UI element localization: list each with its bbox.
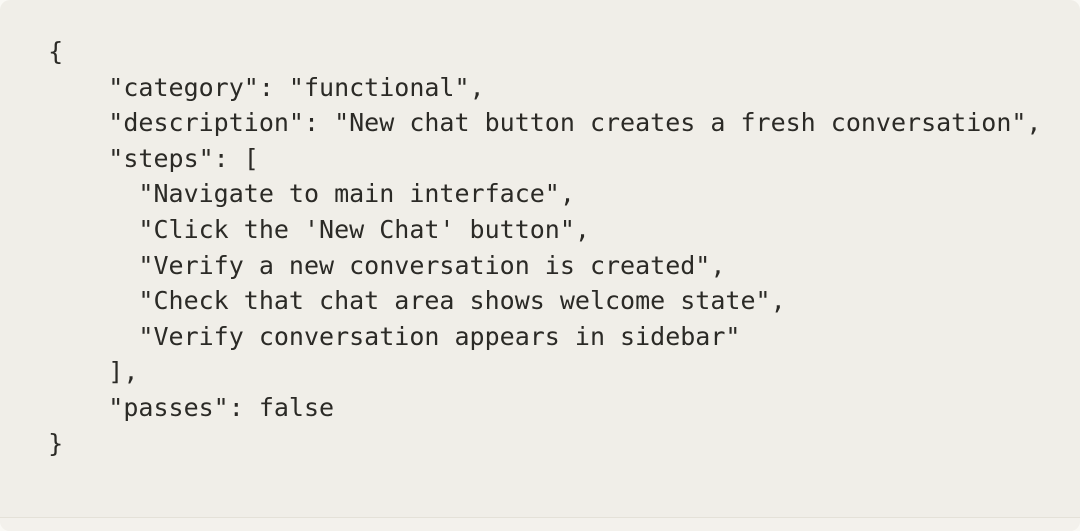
- code-line: "Verify a new conversation is created",: [18, 248, 1060, 284]
- json-code-text: { "category": "functional", "description…: [18, 34, 1060, 461]
- json-code-block-panel: { "category": "functional", "description…: [0, 0, 1080, 531]
- code-line: "passes": false: [18, 390, 1060, 426]
- code-line: "Verify conversation appears in sidebar": [18, 319, 1060, 355]
- code-line: "description": "New chat button creates …: [18, 105, 1060, 141]
- code-line: "steps": [: [18, 141, 1060, 177]
- code-line: ],: [18, 354, 1060, 390]
- code-line: {: [18, 34, 1060, 70]
- panel-footer-strip: [0, 518, 1080, 531]
- panel-divider: [0, 517, 1080, 518]
- code-line: "Check that chat area shows welcome stat…: [18, 283, 1060, 319]
- code-line: "category": "functional",: [18, 70, 1060, 106]
- code-line: "Navigate to main interface",: [18, 176, 1060, 212]
- code-line: "Click the 'New Chat' button",: [18, 212, 1060, 248]
- code-line: }: [18, 426, 1060, 462]
- code-content-area[interactable]: { "category": "functional", "description…: [0, 0, 1080, 461]
